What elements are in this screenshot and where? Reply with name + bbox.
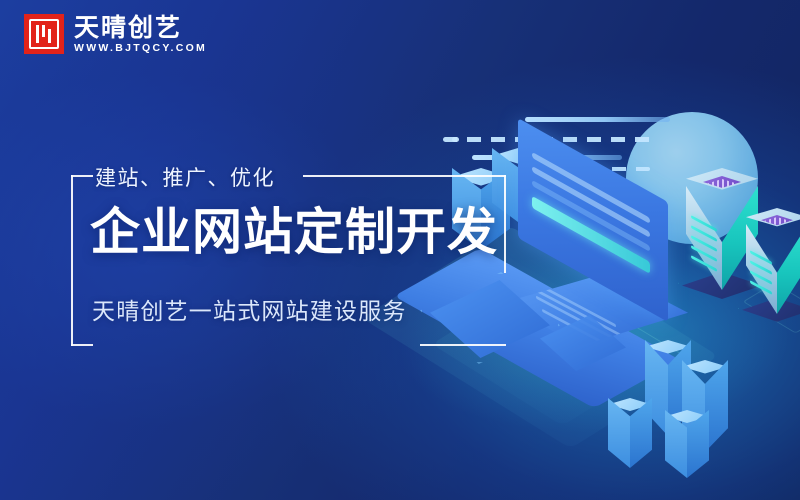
banner-content: 天晴创艺 WWW.BJTQCY.COM 建站、推广、优化 企业网站定制开发 天晴… (0, 0, 800, 500)
frame-right-edge (504, 175, 506, 273)
promo-banner: 天晴创艺 WWW.BJTQCY.COM 建站、推广、优化 企业网站定制开发 天晴… (0, 0, 800, 500)
frame-bottom-arm (71, 344, 93, 346)
eyebrow-text: 建站、推广、优化 (95, 162, 275, 192)
frame-bottom-rule (420, 344, 506, 346)
frame-top-arm (71, 175, 93, 177)
page-title: 企业网站定制开发 (90, 205, 498, 260)
brand-logo[interactable]: 天晴创艺 WWW.BJTQCY.COM (24, 14, 207, 54)
company-website: WWW.BJTQCY.COM (74, 43, 207, 54)
company-name: 天晴创艺 (74, 15, 207, 41)
frame-top-rule (303, 175, 506, 177)
logo-mark-icon (24, 14, 64, 54)
frame-left-edge (71, 175, 73, 346)
logo-text-group: 天晴创艺 WWW.BJTQCY.COM (74, 15, 207, 54)
subtitle-text: 天晴创艺一站式网站建设服务 (92, 292, 407, 326)
